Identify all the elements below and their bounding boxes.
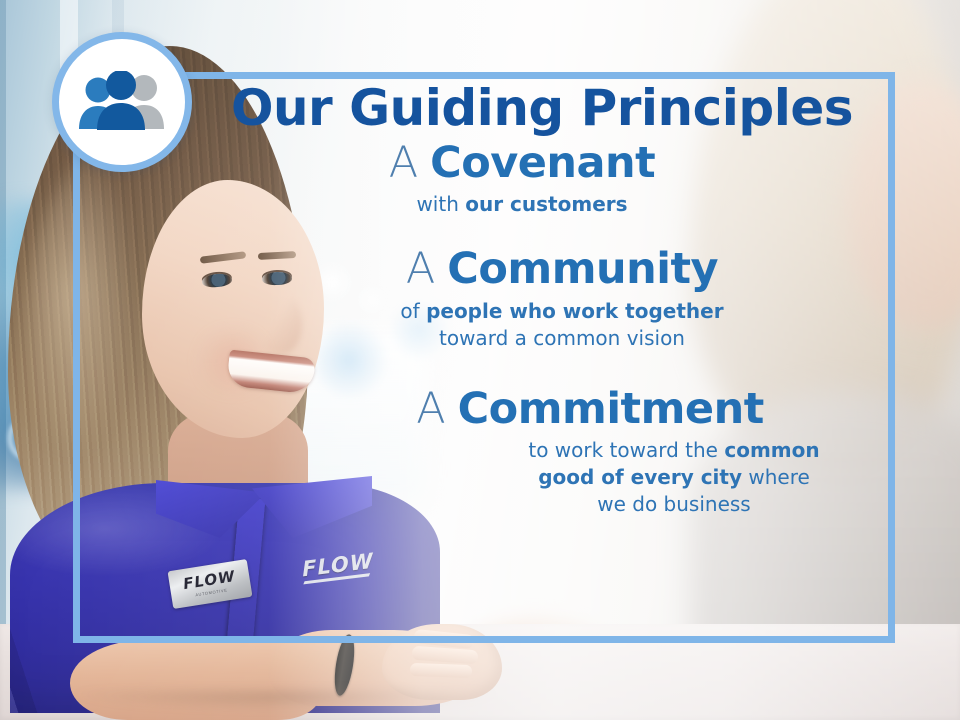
subtext-line: to work toward the common <box>464 437 884 464</box>
principle-commitment-subtext: to work toward the common good of every … <box>464 437 884 518</box>
page-title: Our Guiding Principles <box>200 82 884 134</box>
subtext-lead: with <box>416 192 465 216</box>
arm-contact-shadow <box>60 692 510 714</box>
principle-community-subtext: of people who work together toward a com… <box>240 298 884 352</box>
principle-community-heading: A Community <box>240 246 884 293</box>
people-group-icon <box>76 71 168 133</box>
principle-community: A Community of people who work together … <box>200 246 884 351</box>
subtext-bold: people who work together <box>426 299 724 323</box>
poster-canvas: FLOW AUTOMOTIVE FLOW <box>0 0 960 720</box>
subtext-line: we do business <box>464 491 884 518</box>
name-badge-logo-text: FLOW <box>182 569 236 592</box>
principle-covenant-subtext: with our customers <box>200 191 844 218</box>
principle-keyword: Commitment <box>458 384 764 434</box>
associate-finger <box>410 663 472 678</box>
principles-content: Our Guiding Principles A Covenant with o… <box>200 82 884 518</box>
principle-article: A <box>416 384 445 434</box>
principle-keyword: Community <box>447 244 718 294</box>
principle-covenant-heading: A Covenant <box>200 140 844 187</box>
subtext-line: of people who work together <box>240 298 884 325</box>
principle-keyword: Covenant <box>430 138 655 188</box>
principle-article: A <box>406 244 435 294</box>
principle-commitment: A Commitment to work toward the common g… <box>200 386 884 518</box>
subtext-tail: where <box>742 465 810 489</box>
principle-commitment-heading: A Commitment <box>296 386 884 433</box>
subtext-line: good of every city where <box>464 464 884 491</box>
subtext-lead: to work toward the <box>528 438 724 462</box>
subtext-bold: good of every city <box>538 465 742 489</box>
principle-covenant: A Covenant with our customers <box>200 140 884 218</box>
subtext-bold: our customers <box>465 192 627 216</box>
subtext-lead: of <box>400 299 426 323</box>
subtext-bold: common <box>724 438 819 462</box>
principle-article: A <box>389 138 418 188</box>
people-group-icon-badge <box>52 32 192 172</box>
subtext-line: toward a common vision <box>240 325 884 352</box>
